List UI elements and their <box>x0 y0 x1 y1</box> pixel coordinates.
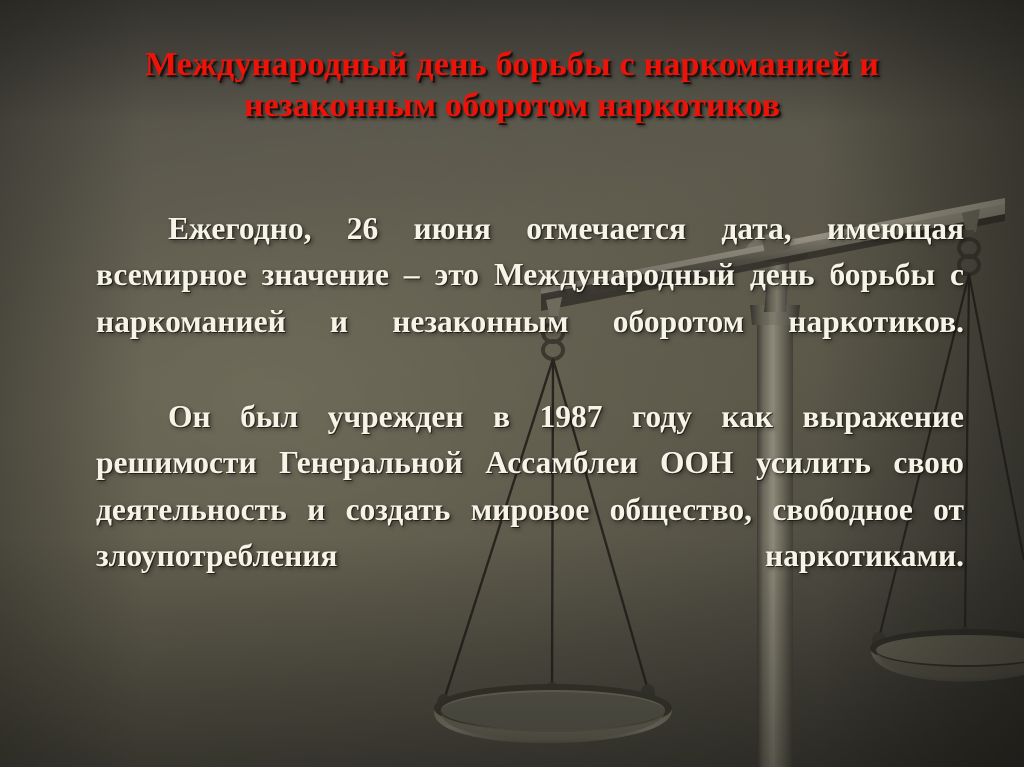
body-paragraph-2: Он был учрежден в 1987 году как выражени… <box>96 394 964 626</box>
page-title: Международный день борьбы с наркоманией … <box>60 44 964 127</box>
title-line-2: незаконным оборотом наркотиков <box>60 85 964 126</box>
presentation-slide: Международный день борьбы с наркоманией … <box>0 0 1024 767</box>
body-paragraph-1: Ежегодно, 26 июня отмечается дата, имеющ… <box>96 206 964 392</box>
slide-body: Ежегодно, 26 июня отмечается дата, имеющ… <box>96 206 964 626</box>
title-line-1: Международный день борьбы с наркоманией … <box>60 44 964 85</box>
